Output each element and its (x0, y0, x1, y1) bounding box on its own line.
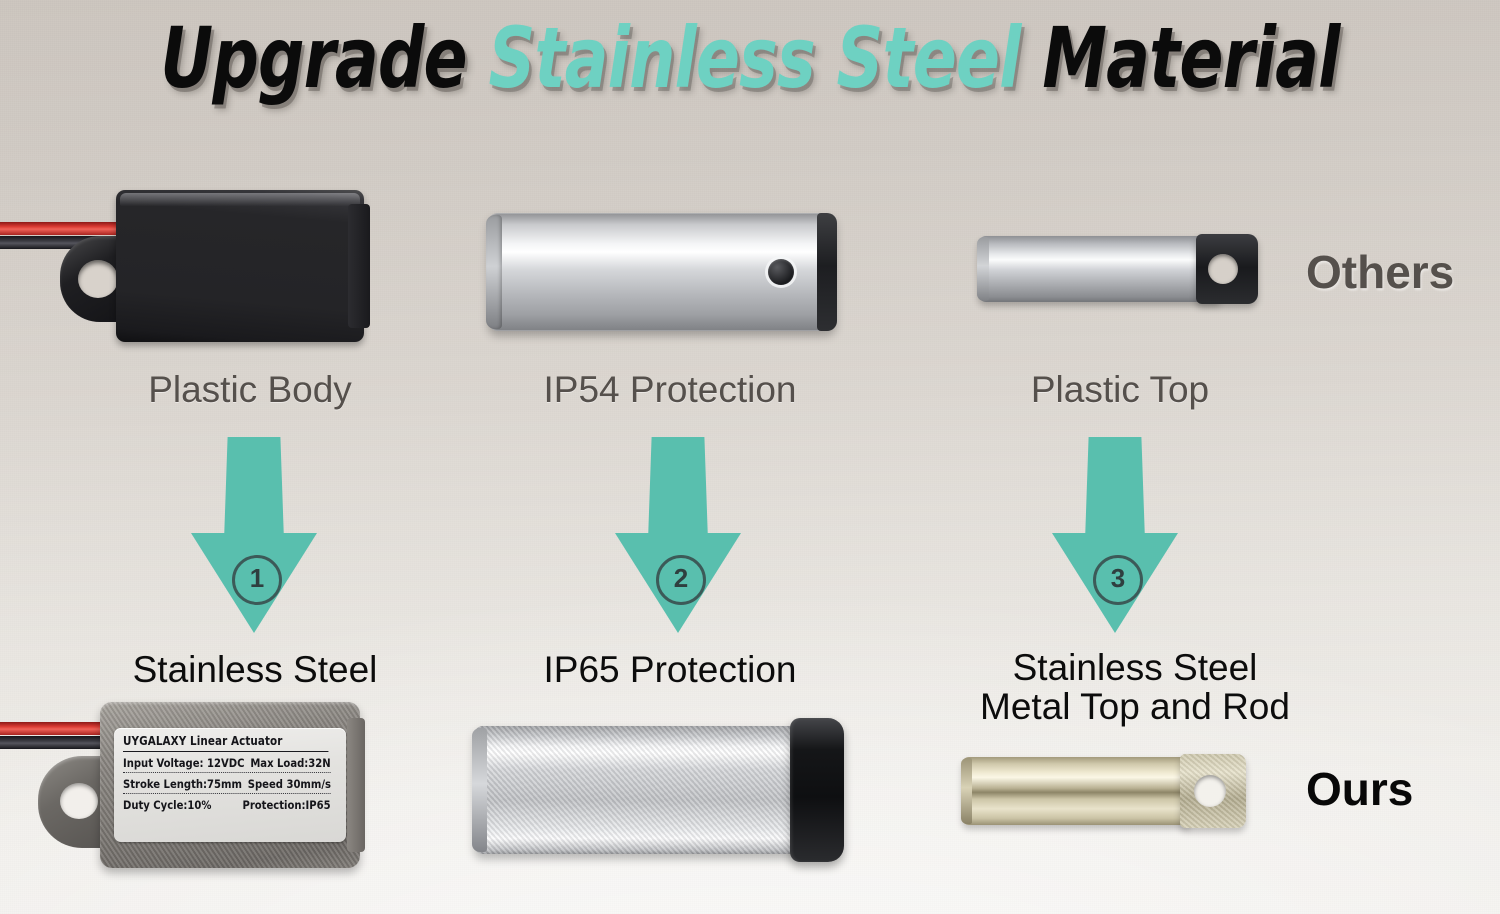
barrel-right-cap (817, 213, 837, 331)
spec-cell-right: Speed 30mm/s (248, 777, 331, 791)
plastic-eyelet-tip (1196, 234, 1258, 304)
caption-stainless-steel: Stainless Steel (60, 650, 450, 689)
infographic-canvas: Upgrade Stainless Steel Material Others … (0, 0, 1500, 914)
stainless-barrel (474, 726, 798, 854)
spec-row: Duty Cycle:10% Protection:IP65 (123, 794, 331, 814)
spec-row: Stroke Length:75mm Speed 30mm/s (123, 773, 331, 794)
page-title: Upgrade Stainless Steel Material (105, 14, 1395, 102)
caption-stainless-metal-top-rod: Stainless Steel Metal Top and Rod (935, 648, 1335, 726)
product-metal-top-rod (962, 757, 1246, 825)
product-ip65-tube (474, 726, 844, 854)
caption-plastic-body: Plastic Body (60, 370, 440, 409)
plastic-shell (116, 190, 364, 342)
title-word-material: Material (1042, 9, 1339, 107)
arrow-number-2: 2 (656, 555, 706, 605)
caption-plastic-top: Plastic Top (940, 370, 1300, 409)
spec-cell-right: Max Load:32N (250, 756, 330, 770)
barrel-left-end (486, 215, 502, 329)
spec-cell-left: Duty Cycle:10% (123, 798, 211, 812)
arrow-number-1: 1 (232, 555, 282, 605)
spec-cell-right: Protection:IP65 (242, 798, 330, 812)
rod-shaft (978, 236, 1220, 302)
arrow-shaft (1085, 437, 1145, 541)
arrow-shaft (224, 437, 284, 541)
arrow-number-3: 3 (1093, 555, 1143, 605)
product-ip54-tube (488, 213, 836, 331)
title-word-upgrade: Upgrade (160, 9, 466, 107)
port-hole-icon (768, 259, 794, 285)
spec-brand-line: UYGALAXY Linear Actuator (123, 734, 328, 752)
spec-cell-left: Stroke Length:75mm (123, 777, 242, 791)
rod-shaft (962, 757, 1190, 825)
arrow-step-1: 1 (191, 437, 317, 633)
spec-row: Input Voltage: 12VDC Max Load:32N (123, 752, 331, 773)
caption-ip65-protection: IP65 Protection (480, 650, 860, 689)
arrow-shaft (648, 437, 708, 541)
arrow-step-2: 2 (615, 437, 741, 633)
rubber-end-cap (790, 718, 844, 862)
spec-cell-left: Input Voltage: 12VDC (123, 756, 244, 770)
label-others: Others (1306, 245, 1454, 299)
product-plastic-top-rod (978, 236, 1258, 302)
arrow-step-3: 3 (1052, 437, 1178, 633)
label-ours: Ours (1306, 762, 1413, 816)
product-stainless-steel-body: UYGALAXY Linear Actuator Input Voltage: … (38, 702, 368, 868)
caption-ip54-protection: IP54 Protection (480, 370, 860, 409)
product-plastic-body (60, 190, 368, 342)
metal-eyelet-tip (1180, 754, 1246, 828)
spec-label: UYGALAXY Linear Actuator Input Voltage: … (114, 728, 346, 842)
title-word-stainless-steel: Stainless Steel (489, 9, 1021, 107)
